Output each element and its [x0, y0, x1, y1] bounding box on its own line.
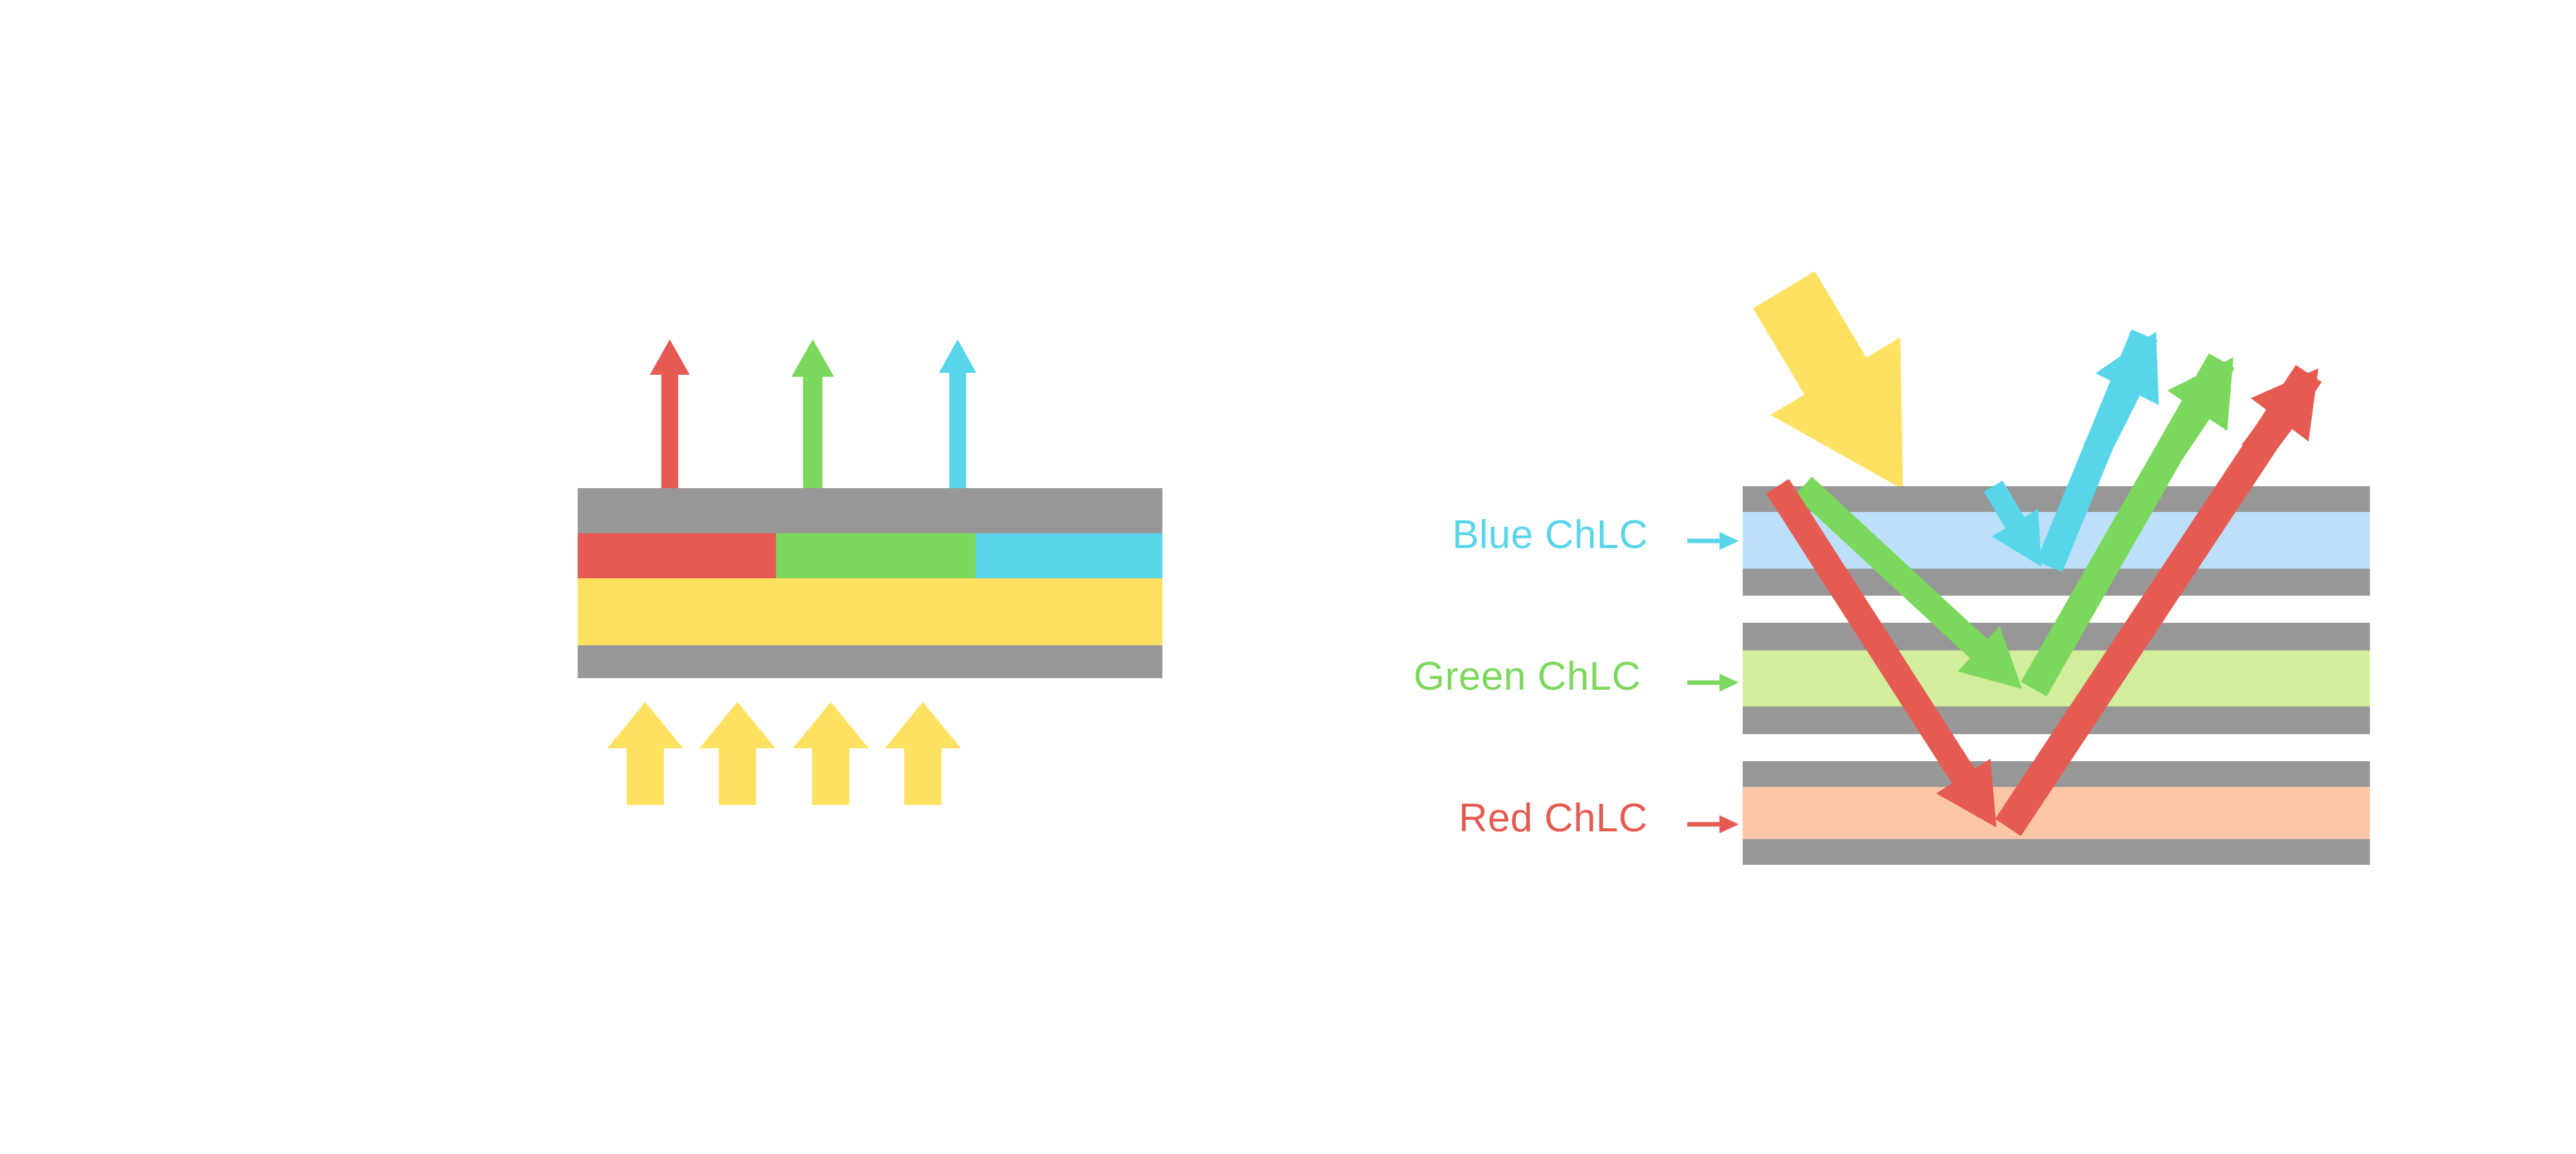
left-backlight-arrows	[607, 702, 961, 805]
left-panel	[578, 339, 1162, 805]
right-panel	[1687, 271, 2370, 865]
label-blue-chlc-leader-arrow	[1687, 532, 1739, 550]
label-green-chlc-leader-arrow	[1687, 674, 1739, 692]
emitted-green-arrow	[791, 339, 834, 488]
incident-white-light-arrow	[1753, 271, 1903, 489]
green-ray-up-head	[2158, 357, 2233, 459]
backlight-arrow-3	[793, 702, 869, 805]
left-stack	[578, 488, 1162, 678]
red-ray-up-head	[2242, 368, 2318, 463]
figure-canvas: Blue ChLC Green ChLC Red ChLC	[0, 0, 2576, 1154]
right-band-red-chlc	[1743, 787, 2370, 839]
left-emitted-arrows	[650, 339, 976, 488]
label-red-chlc: Red ChLC	[1459, 795, 1647, 841]
emitted-red-arrow	[650, 339, 690, 488]
emitted-cyan-arrow	[939, 339, 976, 488]
blue-ray-up-head	[2083, 332, 2159, 457]
backlight-arrow-1	[607, 702, 683, 805]
label-green-chlc: Green ChLC	[1414, 654, 1641, 699]
right-band-gray-6	[1743, 839, 2370, 865]
red-filter-segment	[578, 533, 776, 578]
backlight-arrow-4	[885, 702, 961, 805]
label-blue-chlc: Blue ChLC	[1452, 512, 1648, 558]
right-label-arrows	[1687, 532, 1739, 833]
left-layer-backlight	[578, 578, 1162, 645]
left-layer-top-substrate	[578, 488, 1162, 533]
green-filter-segment	[776, 533, 976, 578]
diagram-svg	[0, 0, 2576, 1154]
cyan-filter-segment	[976, 533, 1162, 578]
backlight-arrow-2	[699, 702, 775, 805]
left-layer-bottom-substrate	[578, 645, 1162, 678]
label-red-chlc-leader-arrow	[1687, 815, 1739, 833]
